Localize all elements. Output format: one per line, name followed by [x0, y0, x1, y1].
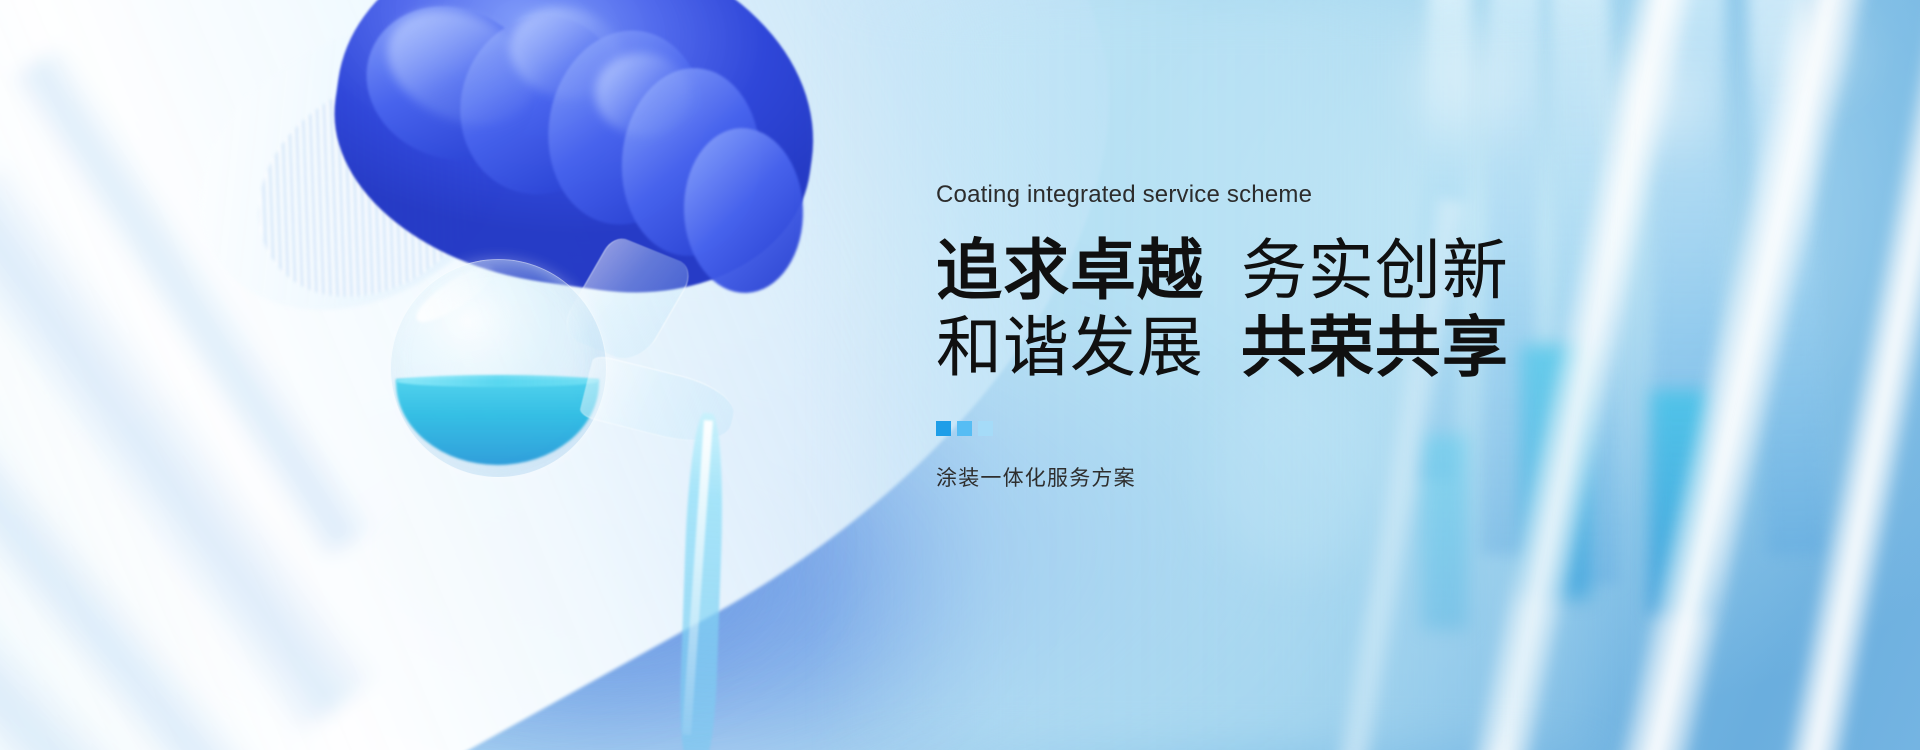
hero-headline: 追求卓越 务实创新 和谐发展 共荣共享: [936, 232, 1656, 385]
flask-liquid-surface: [396, 375, 600, 387]
decor-square-2: [957, 421, 972, 436]
decor-square-1: [936, 421, 951, 436]
hero-text-block: Coating integrated service scheme 追求卓越 务…: [936, 180, 1656, 492]
headline-segment-light: 务实创新: [1241, 233, 1509, 307]
headline-segment-light: 和谐发展: [936, 310, 1204, 384]
hero-eyebrow-english: Coating integrated service scheme: [936, 180, 1656, 210]
hero-banner: Coating integrated service scheme 追求卓越 务…: [0, 0, 1920, 750]
decor-square-3: [978, 421, 993, 436]
decorative-squares: [936, 421, 1656, 436]
bokeh-glow: [1776, 15, 1853, 90]
hero-caption-chinese: 涂装一体化服务方案: [936, 462, 1656, 492]
hero-headline-line-1: 追求卓越 务实创新: [936, 232, 1656, 309]
headline-segment-bold: 共荣共享: [1241, 310, 1509, 384]
hero-headline-line-2: 和谐发展 共荣共享: [936, 309, 1656, 386]
headline-segment-bold: 追求卓越: [936, 233, 1204, 307]
bokeh-glow: [1613, 60, 1701, 143]
